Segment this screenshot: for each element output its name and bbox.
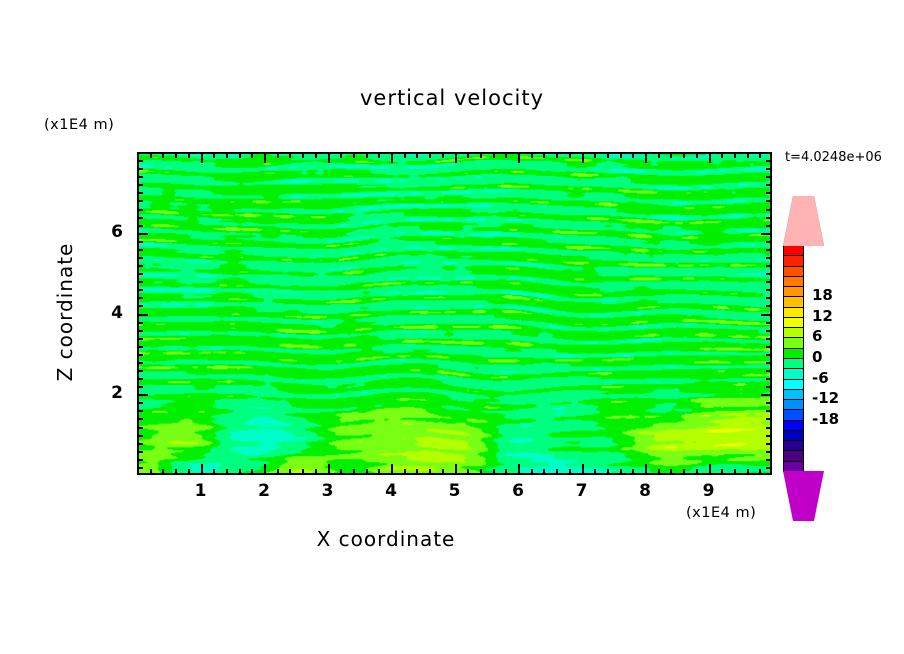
tick-mark [582, 152, 584, 163]
tick-mark [766, 168, 772, 170]
colorbar-tick-label: -12 [812, 389, 839, 407]
colorbar-tick-label: 12 [812, 307, 833, 325]
tick-mark [766, 209, 772, 211]
tick-mark [137, 281, 143, 283]
tick-mark [766, 176, 772, 178]
tick-mark [175, 469, 177, 475]
tick-mark [378, 469, 380, 475]
tick-mark [766, 362, 772, 364]
tick-mark [620, 469, 622, 475]
tick-mark [670, 152, 672, 158]
tick-mark [391, 152, 393, 163]
tick-mark [645, 464, 647, 475]
x-tick-label: 8 [630, 481, 660, 501]
tick-mark [766, 297, 772, 299]
tick-mark [505, 469, 507, 475]
tick-mark [766, 225, 772, 227]
tick-mark [766, 281, 772, 283]
tick-mark [766, 192, 772, 194]
tick-mark [137, 435, 143, 437]
tick-mark [302, 469, 304, 475]
tick-mark [709, 152, 711, 163]
tick-mark [594, 152, 596, 158]
tick-mark [556, 152, 558, 158]
tick-mark [766, 265, 772, 267]
tick-mark [543, 152, 545, 158]
tick-mark [766, 370, 772, 372]
tick-mark [239, 469, 241, 475]
tick-mark [607, 152, 609, 158]
tick-mark [493, 152, 495, 158]
tick-mark [137, 370, 143, 372]
tick-mark [137, 192, 143, 194]
tick-mark [188, 152, 190, 158]
tick-mark [556, 469, 558, 475]
colorbar-tick-label: 0 [812, 348, 822, 366]
y-tick-label: 6 [93, 222, 123, 242]
tick-mark [766, 241, 772, 243]
tick-mark [766, 459, 772, 461]
tick-mark [696, 469, 698, 475]
tick-mark [162, 152, 164, 158]
tick-mark [277, 469, 279, 475]
tick-mark [766, 410, 772, 412]
tick-mark [696, 152, 698, 158]
tick-mark [137, 346, 143, 348]
tick-mark [761, 394, 772, 396]
tick-mark [226, 469, 228, 475]
tick-mark [505, 152, 507, 158]
tick-mark [137, 200, 143, 202]
tick-mark [766, 257, 772, 259]
tick-mark [328, 464, 330, 475]
x-tick-label: 4 [376, 481, 406, 501]
tick-mark [766, 435, 772, 437]
colorbar-tick-label: -6 [812, 369, 829, 387]
tick-mark [137, 273, 143, 275]
tick-mark [442, 469, 444, 475]
tick-mark [137, 354, 143, 356]
tick-mark [264, 152, 266, 163]
tick-mark [632, 469, 634, 475]
tick-mark [137, 209, 143, 211]
tick-mark [658, 152, 660, 158]
tick-mark [353, 152, 355, 158]
tick-mark [658, 469, 660, 475]
tick-mark [467, 469, 469, 475]
tick-mark [766, 217, 772, 219]
tick-mark [239, 152, 241, 158]
x-tick-label: 5 [440, 481, 470, 501]
tick-mark [340, 152, 342, 158]
tick-mark [416, 469, 418, 475]
contour-plot-area [137, 152, 772, 475]
tick-mark [569, 152, 571, 158]
tick-mark [455, 152, 457, 163]
x-tick-label: 2 [249, 481, 279, 501]
chart-title: vertical velocity [0, 86, 904, 110]
tick-mark [137, 176, 143, 178]
colorbar-tick-label: 6 [812, 327, 822, 345]
tick-mark [137, 233, 148, 235]
tick-mark [531, 152, 533, 158]
tick-mark [766, 467, 772, 469]
tick-mark [137, 459, 143, 461]
y-axis-unit-label: (x1E4 m) [44, 117, 114, 133]
tick-mark [137, 184, 143, 186]
x-axis-unit-label: (x1E4 m) [686, 505, 756, 521]
tick-mark [162, 469, 164, 475]
contour-field [139, 154, 770, 473]
tick-mark [759, 152, 761, 158]
x-tick-label: 7 [567, 481, 597, 501]
tick-mark [467, 152, 469, 158]
tick-mark [442, 152, 444, 158]
tick-mark [137, 386, 143, 388]
y-tick-label: 4 [93, 303, 123, 323]
tick-mark [766, 443, 772, 445]
tick-mark [137, 330, 143, 332]
tick-mark [251, 469, 253, 475]
tick-mark [137, 394, 148, 396]
tick-mark [137, 217, 143, 219]
tick-mark [137, 378, 143, 380]
tick-mark [137, 305, 143, 307]
tick-mark [766, 289, 772, 291]
tick-mark [531, 469, 533, 475]
tick-mark [137, 314, 148, 316]
tick-mark [480, 152, 482, 158]
tick-mark [137, 241, 143, 243]
colorbar-over-arrow [783, 196, 824, 246]
tick-mark [137, 249, 143, 251]
tick-mark [594, 469, 596, 475]
tick-mark [264, 464, 266, 475]
tick-mark [137, 257, 143, 259]
x-tick-label: 1 [186, 481, 216, 501]
tick-mark [766, 273, 772, 275]
tick-mark [766, 184, 772, 186]
tick-mark [709, 464, 711, 475]
tick-mark [766, 330, 772, 332]
x-tick-label: 9 [694, 481, 724, 501]
tick-mark [766, 322, 772, 324]
tick-mark [289, 469, 291, 475]
tick-mark [213, 469, 215, 475]
tick-mark [416, 152, 418, 158]
tick-mark [302, 152, 304, 158]
tick-mark [683, 469, 685, 475]
colorbar-tick-label: 18 [812, 286, 833, 304]
tick-mark [766, 249, 772, 251]
tick-mark [150, 469, 152, 475]
tick-mark [734, 152, 736, 158]
tick-mark [150, 152, 152, 158]
tick-mark [251, 152, 253, 158]
timestamp-label: t=4.0248e+06 [785, 150, 902, 165]
tick-mark [683, 152, 685, 158]
tick-mark [766, 346, 772, 348]
tick-mark [328, 152, 330, 163]
tick-mark [582, 464, 584, 475]
tick-mark [137, 289, 143, 291]
tick-mark [404, 469, 406, 475]
tick-mark [721, 469, 723, 475]
x-axis-title: X coordinate [0, 527, 772, 551]
tick-mark [759, 469, 761, 475]
tick-mark [721, 152, 723, 158]
tick-mark [569, 469, 571, 475]
colorbar [783, 245, 804, 471]
tick-mark [607, 469, 609, 475]
tick-mark [429, 152, 431, 158]
tick-mark [137, 265, 143, 267]
tick-mark [201, 464, 203, 475]
tick-mark [201, 152, 203, 163]
tick-mark [137, 418, 143, 420]
tick-mark [766, 386, 772, 388]
tick-mark [277, 152, 279, 158]
tick-mark [766, 160, 772, 162]
tick-mark [175, 152, 177, 158]
tick-mark [213, 152, 215, 158]
tick-mark [137, 168, 143, 170]
tick-mark [493, 469, 495, 475]
tick-mark [315, 152, 317, 158]
tick-mark [137, 225, 143, 227]
x-tick-label: 6 [503, 481, 533, 501]
tick-mark [766, 305, 772, 307]
tick-mark [137, 410, 143, 412]
tick-mark [391, 464, 393, 475]
z-axis-title: Z coordinate [53, 212, 77, 412]
tick-mark [766, 354, 772, 356]
tick-mark [747, 469, 749, 475]
tick-mark [289, 152, 291, 158]
tick-mark [340, 469, 342, 475]
tick-mark [137, 451, 143, 453]
tick-mark [137, 322, 143, 324]
tick-mark [620, 152, 622, 158]
tick-mark [761, 314, 772, 316]
tick-mark [518, 152, 520, 163]
y-tick-label: 2 [93, 383, 123, 403]
tick-mark [378, 152, 380, 158]
tick-mark [137, 443, 143, 445]
tick-mark [761, 233, 772, 235]
x-tick-label: 3 [313, 481, 343, 501]
tick-mark [137, 427, 143, 429]
tick-mark [518, 464, 520, 475]
tick-mark [480, 469, 482, 475]
tick-mark [404, 152, 406, 158]
tick-mark [353, 469, 355, 475]
tick-mark [315, 469, 317, 475]
tick-mark [137, 338, 143, 340]
tick-mark [766, 451, 772, 453]
tick-mark [766, 338, 772, 340]
tick-mark [645, 152, 647, 163]
tick-mark [366, 469, 368, 475]
tick-mark [137, 160, 143, 162]
tick-mark [766, 378, 772, 380]
colorbar-under-arrow [783, 471, 824, 521]
tick-mark [226, 152, 228, 158]
colorbar-tick-label: -18 [812, 410, 839, 428]
tick-mark [137, 297, 143, 299]
tick-mark [137, 402, 143, 404]
tick-mark [734, 469, 736, 475]
tick-mark [137, 467, 143, 469]
tick-mark [766, 418, 772, 420]
tick-mark [188, 469, 190, 475]
tick-mark [455, 464, 457, 475]
tick-mark [137, 362, 143, 364]
tick-mark [543, 469, 545, 475]
tick-mark [766, 402, 772, 404]
tick-mark [766, 427, 772, 429]
tick-mark [366, 152, 368, 158]
tick-mark [670, 469, 672, 475]
tick-mark [429, 469, 431, 475]
tick-mark [632, 152, 634, 158]
tick-mark [747, 152, 749, 158]
tick-mark [766, 200, 772, 202]
